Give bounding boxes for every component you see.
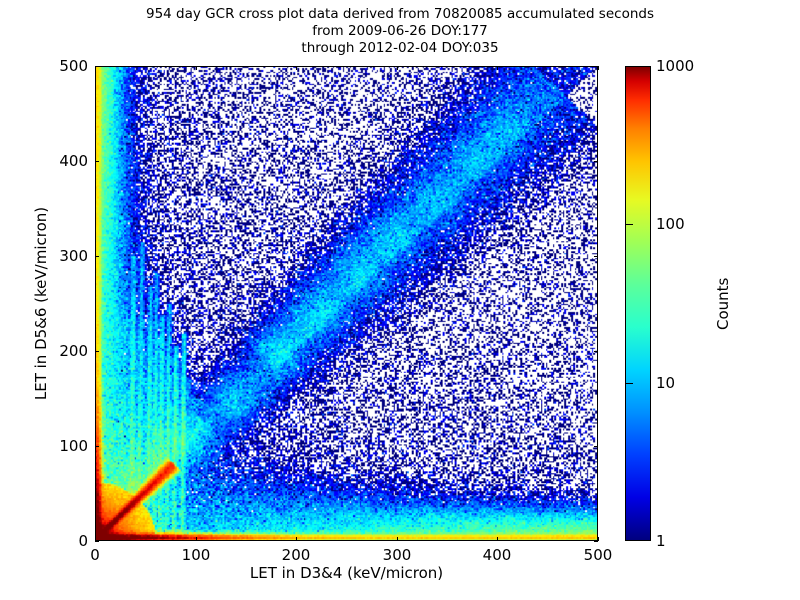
y-tick-mark [95,161,99,162]
colorbar-label: Counts [714,278,732,330]
y-tick-label: 0 [78,532,88,550]
y-tick-mark [95,541,99,542]
x-tick-mark-top [598,66,599,70]
colorbar-tick-label: 1000 [656,57,694,75]
y-tick-label: 300 [59,247,88,265]
y-tick-mark-right [594,66,598,67]
y-tick-mark-right [594,446,598,447]
y-axis-label: LET in D5&6 (keV/micron) [32,66,50,541]
colorbar-gradient [626,67,650,540]
x-tick-mark [497,537,498,541]
x-tick-label: 100 [182,546,211,564]
colorbar-tick-label: 10 [656,374,675,392]
chart-title: 954 day GCR cross plot data derived from… [0,6,800,57]
title-line-1: 954 day GCR cross plot data derived from… [0,6,800,23]
y-tick-mark [95,446,99,447]
plot-area [95,66,598,541]
x-tick-mark [397,537,398,541]
colorbar [625,66,651,541]
colorbar-tick-label: 100 [656,215,685,233]
y-tick-mark [95,351,99,352]
x-tick-label: 400 [483,546,512,564]
y-tick-mark-right [594,541,598,542]
figure: 954 day GCR cross plot data derived from… [0,0,800,600]
title-line-2: from 2009-06-26 DOY:177 [0,23,800,40]
y-tick-label: 500 [59,57,88,75]
x-tick-mark-top [196,66,197,70]
y-tick-mark [95,256,99,257]
y-tick-mark-right [594,256,598,257]
colorbar-tick-label: 1 [656,532,666,550]
x-tick-mark-top [497,66,498,70]
y-tick-label: 100 [59,437,88,455]
x-tick-mark [196,537,197,541]
title-line-3: through 2012-02-04 DOY:035 [0,40,800,57]
y-tick-mark-right [594,351,598,352]
x-axis-label: LET in D3&4 (keV/micron) [95,564,598,582]
x-tick-label: 500 [584,546,613,564]
x-tick-mark-top [397,66,398,70]
x-tick-mark [598,537,599,541]
x-tick-label: 0 [90,546,100,564]
y-tick-mark [95,66,99,67]
colorbar-tick-mark [626,224,633,225]
x-tick-mark-top [296,66,297,70]
y-tick-label: 200 [59,342,88,360]
x-tick-mark [296,537,297,541]
x-tick-label: 200 [282,546,311,564]
y-tick-label: 400 [59,152,88,170]
colorbar-tick-mark [626,383,633,384]
heatmap-canvas [96,67,597,540]
y-tick-mark-right [594,161,598,162]
x-tick-label: 300 [383,546,412,564]
